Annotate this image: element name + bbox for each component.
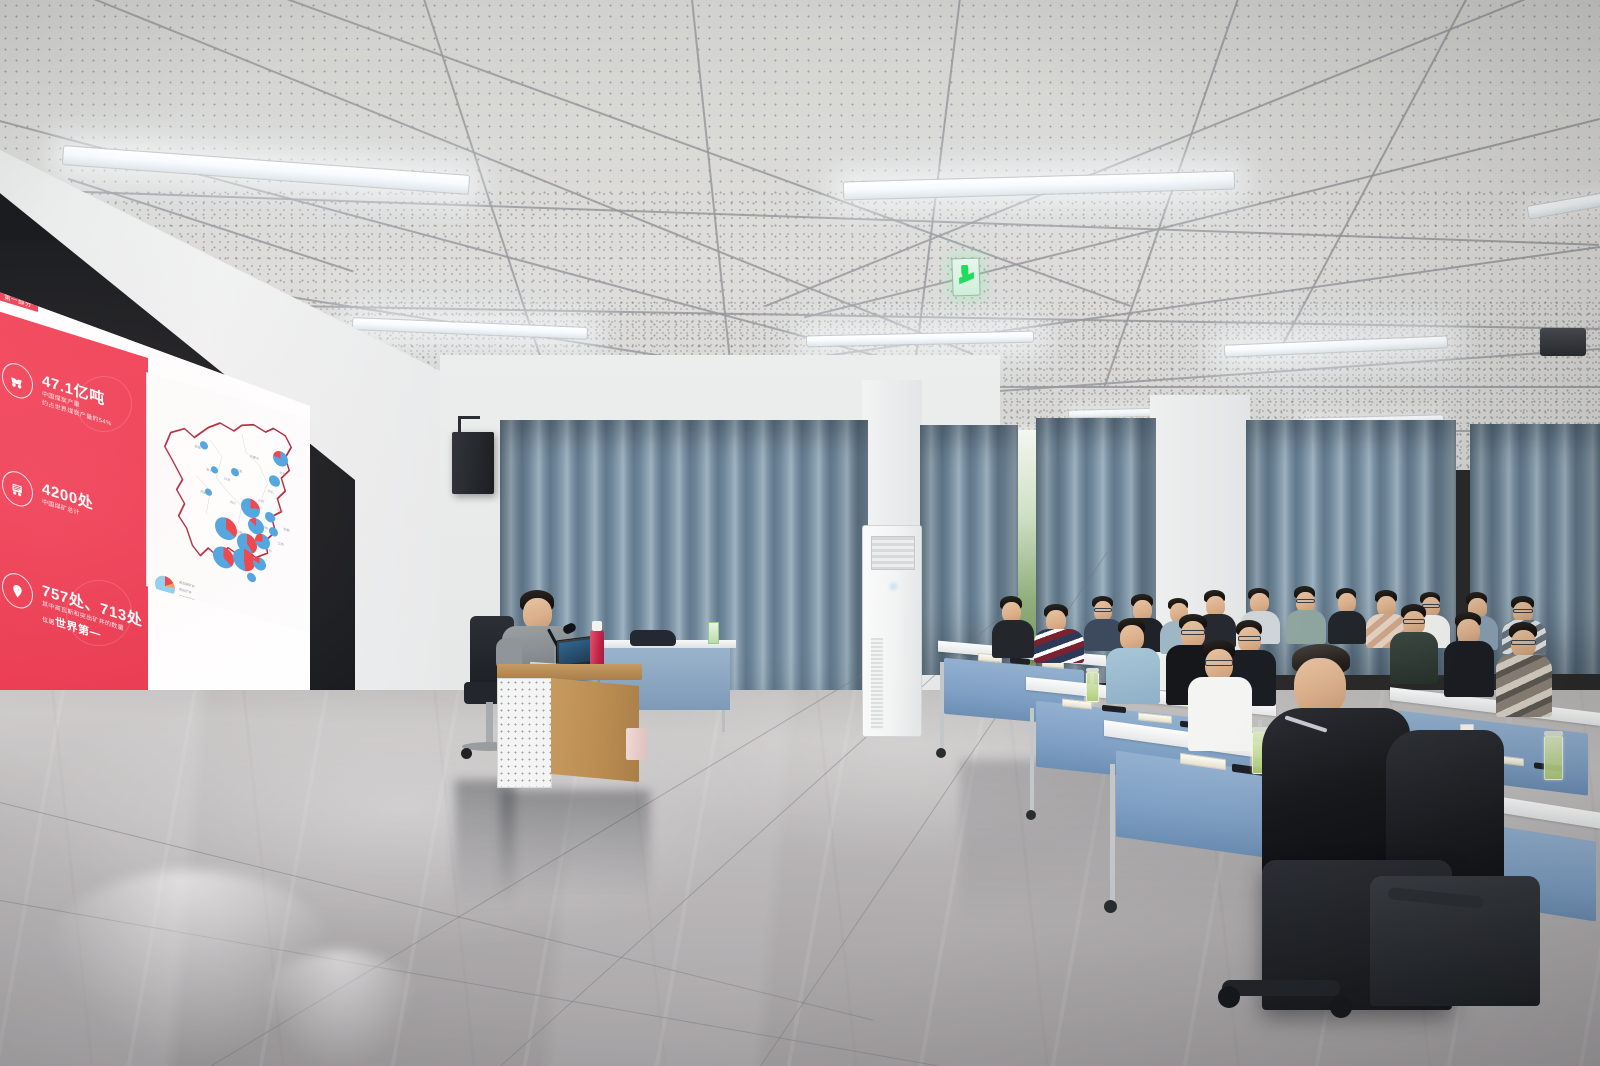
eyeglasses bbox=[1094, 608, 1112, 612]
legend-label: 低瓦斯矿井 bbox=[179, 593, 195, 603]
podium-perforated-panel bbox=[497, 678, 552, 788]
audience-member bbox=[1188, 640, 1254, 750]
table-caster bbox=[1104, 900, 1117, 913]
ac-power-led bbox=[891, 584, 896, 589]
eyeglasses bbox=[1181, 630, 1205, 635]
head bbox=[1250, 593, 1269, 613]
running-man-icon bbox=[959, 265, 975, 292]
tea-cup bbox=[1086, 672, 1099, 702]
torso bbox=[1106, 648, 1160, 704]
eyeglasses bbox=[1296, 599, 1315, 603]
ac-grill bbox=[871, 536, 915, 570]
audience-member bbox=[1328, 588, 1368, 644]
torso bbox=[1328, 611, 1366, 644]
audience-member bbox=[1444, 612, 1496, 698]
laptop-screen-glow bbox=[559, 639, 593, 665]
podium bbox=[497, 664, 642, 792]
chair-caster bbox=[461, 748, 472, 759]
floor-light-reflection bbox=[260, 950, 420, 1066]
air-conditioner bbox=[862, 525, 922, 737]
torso bbox=[992, 620, 1034, 658]
audience-member bbox=[1286, 586, 1328, 644]
svg-text:江西: 江西 bbox=[277, 540, 284, 547]
chair-post bbox=[486, 702, 493, 746]
china-gas-distribution-map: 新疆青海 西藏甘肃 宁夏内蒙古 四川陕西 山西河北 云南贵州 湖南河南 山东黑龙… bbox=[146, 372, 312, 634]
emergency-exit-sign bbox=[951, 258, 980, 297]
audience-member bbox=[1106, 618, 1162, 704]
chair-caster bbox=[1330, 996, 1352, 1018]
chair-caster bbox=[1218, 986, 1240, 1008]
table-leg bbox=[1030, 708, 1034, 812]
torso bbox=[1286, 610, 1326, 644]
tea-cup-lid bbox=[1086, 668, 1099, 672]
map-inner: 新疆青海 西藏甘肃 宁夏内蒙古 四川陕西 山西河北 云南贵州 湖南河南 山东黑龙… bbox=[147, 373, 311, 634]
bottle-cap bbox=[592, 621, 602, 631]
speaker-bracket bbox=[458, 416, 480, 432]
black-bag bbox=[630, 630, 676, 646]
back-table-leg bbox=[722, 710, 725, 732]
waste-bin bbox=[626, 728, 648, 760]
audience-member bbox=[992, 596, 1036, 658]
eyeglasses bbox=[1205, 660, 1233, 666]
table-leg bbox=[940, 662, 944, 750]
torso bbox=[1034, 629, 1084, 663]
tea-cup-lid bbox=[1544, 731, 1563, 736]
wall-speaker bbox=[452, 432, 494, 494]
floor-podium-reflection bbox=[500, 790, 650, 900]
eyeglasses bbox=[1513, 609, 1533, 613]
table-leg bbox=[1110, 764, 1115, 904]
wall-projector bbox=[1540, 328, 1586, 356]
table-caster bbox=[1026, 810, 1036, 820]
audience-member bbox=[1034, 604, 1086, 662]
green-placard bbox=[708, 622, 719, 644]
torso bbox=[1188, 677, 1252, 751]
classroom-photo-scene: 第一部分 中国煤矿瓦斯赋存现状 1.1 现状概述 47.1亿吨 中国煤炭产量 约… bbox=[0, 0, 1600, 1066]
head bbox=[1338, 593, 1356, 613]
torso bbox=[1444, 641, 1494, 697]
eyeglasses bbox=[1403, 619, 1425, 624]
legend-pie-sample bbox=[155, 573, 175, 599]
stat-world-prefix: 位居 bbox=[42, 617, 55, 627]
svg-text:安徽: 安徽 bbox=[283, 526, 290, 533]
table-caster bbox=[936, 748, 946, 758]
ac-side-vents bbox=[871, 638, 883, 730]
tea-cup bbox=[1544, 736, 1563, 780]
eyeglasses bbox=[1511, 640, 1536, 645]
